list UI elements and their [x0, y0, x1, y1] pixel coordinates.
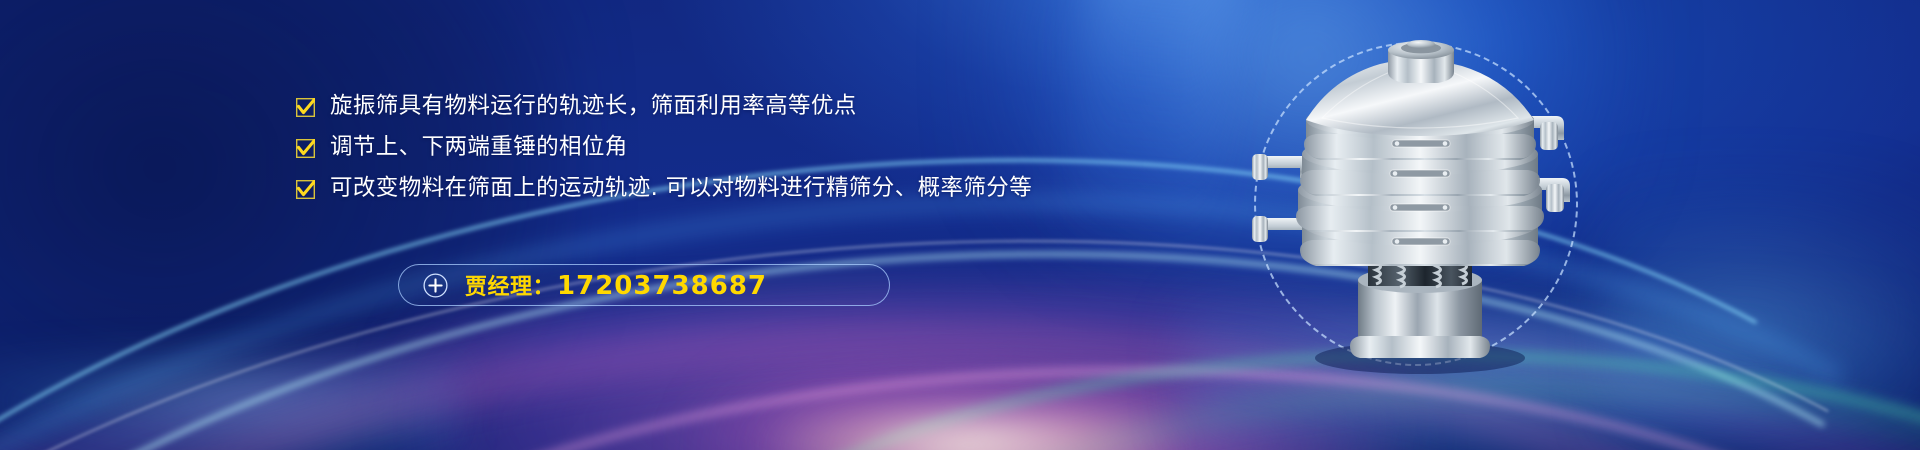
plus-circle-icon: [423, 273, 448, 298]
background-light-effects: [0, 0, 1920, 450]
background-cyan-tail: [0, 358, 460, 450]
promo-banner: 旋振筛具有物料运行的轨迹长，筛面利用率高等优点 调节上、下两端重锤的相位角 可改…: [0, 0, 1920, 450]
feature-text: 调节上、下两端重锤的相位角: [330, 133, 628, 161]
rotary-vibrating-sieve-illustration: [1240, 28, 1600, 408]
background-hotspot: [760, 412, 1180, 450]
contact-phone-button[interactable]: 贾经理： 17203738687: [398, 264, 890, 306]
contact-phone-number: 17203738687: [557, 271, 767, 301]
background-right-edge-glow: [1600, 170, 1920, 450]
contact-text: 贾经理： 17203738687: [465, 269, 767, 301]
feature-text: 旋振筛具有物料运行的轨迹长，筛面利用率高等优点: [330, 92, 857, 120]
feature-item: 旋振筛具有物料运行的轨迹长，筛面利用率高等优点: [296, 92, 1016, 120]
check-square-icon: [296, 98, 315, 117]
product-image: [1240, 28, 1600, 408]
feature-item: 调节上、下两端重锤的相位角: [296, 133, 1016, 161]
contact-name: 贾经理：: [465, 269, 555, 301]
check-square-icon: [296, 139, 315, 158]
check-square-icon: [296, 180, 315, 199]
feature-list: 旋振筛具有物料运行的轨迹长，筛面利用率高等优点 调节上、下两端重锤的相位角 可改…: [296, 92, 1016, 215]
feature-item: 可改变物料在筛面上的运动轨迹. 可以对物料进行精筛分、概率筛分等: [296, 174, 1016, 202]
feature-text: 可改变物料在筛面上的运动轨迹. 可以对物料进行精筛分、概率筛分等: [330, 174, 1032, 202]
